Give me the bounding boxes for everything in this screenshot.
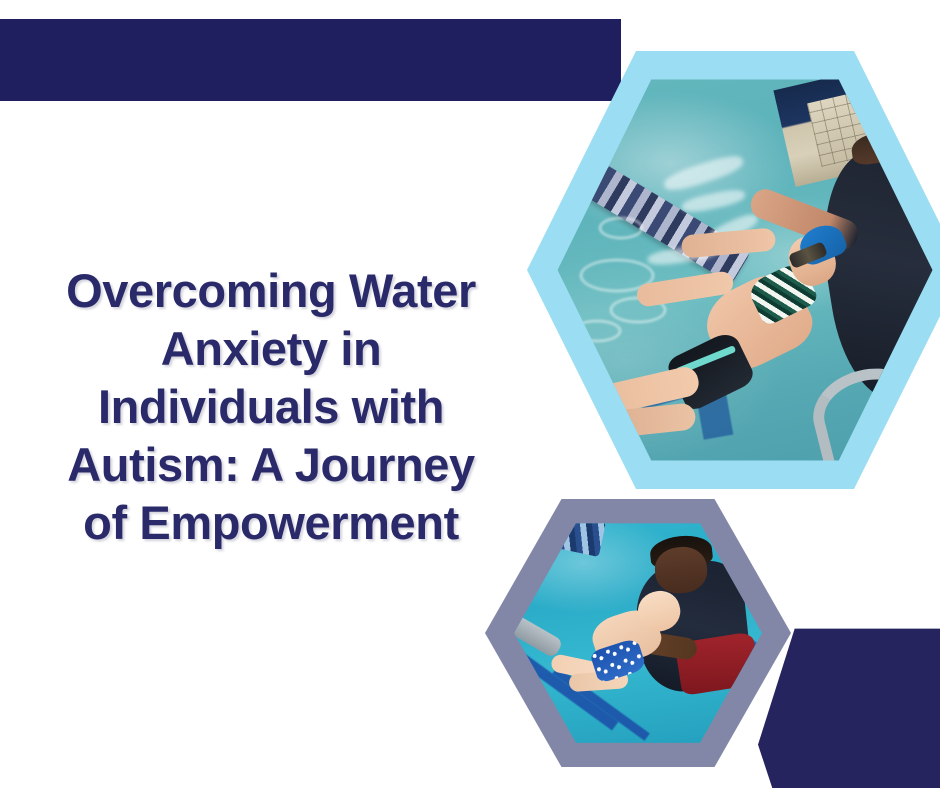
navy-bar xyxy=(0,19,621,101)
page-title-text: Overcoming Water Anxiety in Individuals … xyxy=(14,262,528,552)
hexagon-photo-infant-swim-image xyxy=(514,523,762,743)
pool-gutter xyxy=(514,609,564,658)
pool-water-adult xyxy=(558,79,933,460)
swimmer-leg xyxy=(594,402,697,439)
water-caustic xyxy=(599,217,644,240)
water-caustic xyxy=(573,320,622,343)
pool-water-infant xyxy=(514,523,762,743)
pool-handrail xyxy=(804,357,932,461)
pool-tile-strip xyxy=(521,523,606,557)
hexagon-photo-infant-swim-frame xyxy=(485,499,791,767)
title-card-canvas: Overcoming Water Anxiety in Individuals … xyxy=(0,0,940,788)
page-title: Overcoming Water Anxiety in Individuals … xyxy=(14,262,528,552)
navy-hexagon-block xyxy=(758,624,940,788)
hexagon-photo-adult-float-frame xyxy=(527,51,940,489)
hexagon-photo-adult-float-image xyxy=(558,79,933,460)
water-shimmer xyxy=(680,187,746,215)
water-shimmer xyxy=(662,151,746,195)
